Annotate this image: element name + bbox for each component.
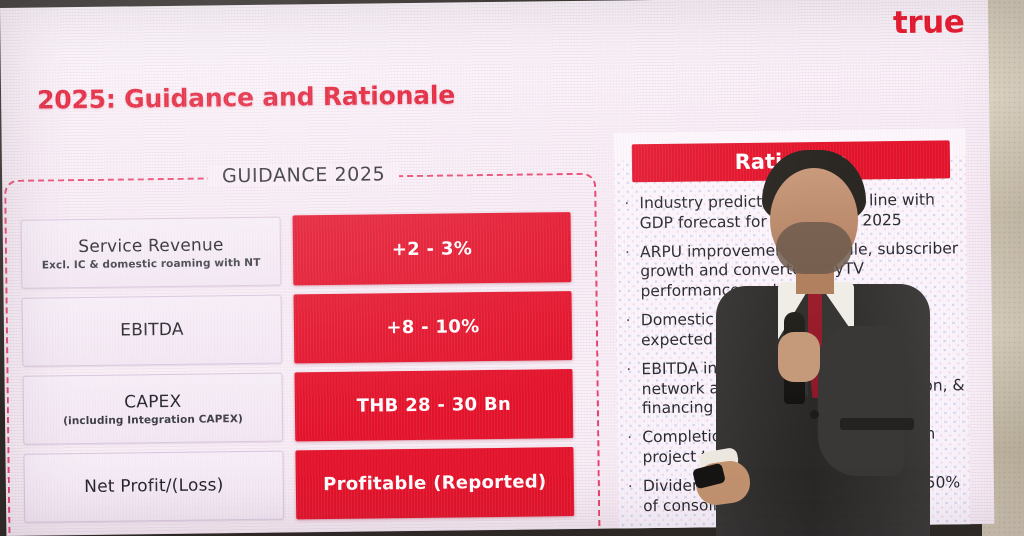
metric-sublabel: (including Integration CAPEX): [63, 413, 243, 427]
metric-label: Service Revenue: [78, 235, 224, 257]
metric-label-cell: CAPEX (including Integration CAPEX): [22, 373, 283, 445]
metric-label: CAPEX: [124, 391, 181, 412]
metric-label-cell: EBITDA: [22, 295, 283, 367]
metric-label-cell: Service Revenue Excl. IC & domestic roam…: [21, 217, 282, 289]
presenter-arm-right: [818, 326, 904, 476]
slide-title: 2025: Guidance and Rationale: [37, 80, 455, 114]
bullet-dot-icon: ·: [627, 429, 635, 469]
table-row: CAPEX (including Integration CAPEX) THB …: [22, 369, 583, 445]
guidance-section-label: GUIDANCE 2025: [208, 163, 399, 187]
metric-label: Net Profit/(Loss): [84, 475, 224, 497]
metric-value-cell: Profitable (Reported): [295, 447, 574, 519]
metric-label: EBITDA: [120, 319, 184, 340]
bullet-dot-icon: ·: [625, 243, 634, 303]
presenter-beard: [776, 222, 852, 274]
bullet-dot-icon: ·: [626, 311, 634, 351]
table-row: Net Profit/(Loss) Profitable (Reported): [23, 447, 584, 523]
bullet-dot-icon: ·: [624, 194, 632, 234]
metric-value-cell: +8 - 10%: [294, 291, 573, 363]
bullet-dot-icon: ·: [628, 477, 636, 517]
metric-label-cell: Net Profit/(Loss): [23, 451, 284, 523]
true-logo: true: [893, 4, 965, 41]
metric-value-cell: +2 - 3%: [293, 212, 572, 285]
bullet-dot-icon: ·: [626, 360, 635, 420]
jacket-pocket: [840, 418, 914, 430]
metric-sublabel: Excl. IC & domestic roaming with NT: [42, 256, 261, 271]
presenter-figure: [700, 150, 930, 536]
presenter-hand-holding-mic: [778, 332, 820, 382]
photo-of-presentation-screen: true 2025: Guidance and Rationale GUIDAN…: [0, 0, 1024, 536]
metric-value-cell: THB 28 - 30 Bn: [294, 369, 573, 441]
table-row: Service Revenue Excl. IC & domestic roam…: [21, 213, 582, 289]
jacket-button: [810, 410, 819, 419]
table-row: EBITDA +8 - 10%: [22, 291, 583, 367]
guidance-table: Service Revenue Excl. IC & domestic roam…: [21, 213, 585, 532]
